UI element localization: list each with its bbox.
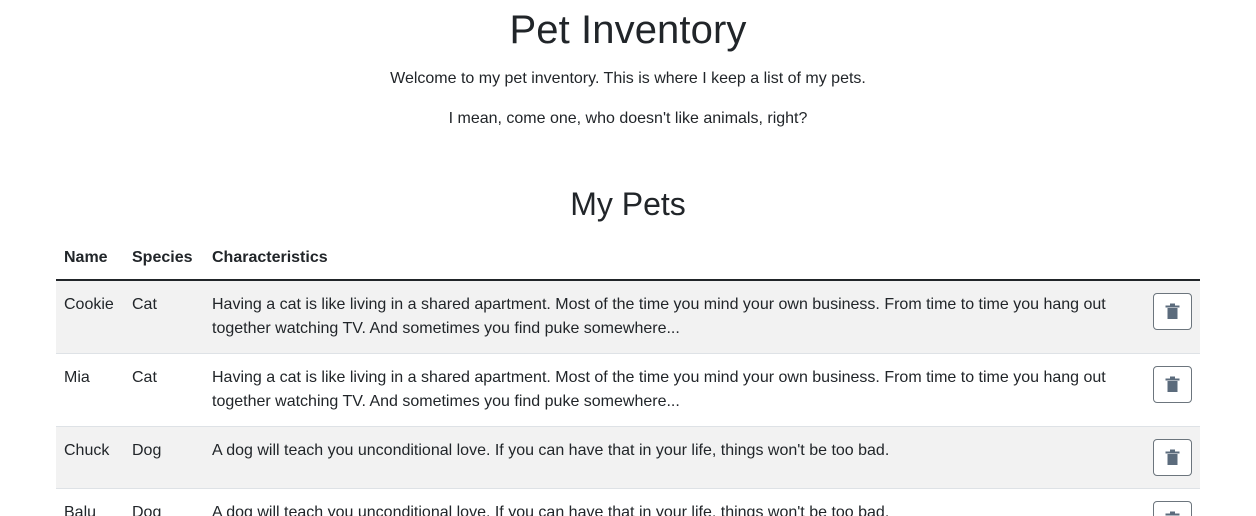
column-header-characteristics: Characteristics	[204, 246, 1138, 280]
trash-icon	[1165, 511, 1180, 516]
cell-characteristics: A dog will teach you unconditional love.…	[204, 427, 1138, 489]
trash-icon	[1165, 303, 1180, 320]
cell-name: Balu	[56, 489, 124, 516]
header-block: Pet Inventory Welcome to my pet inventor…	[0, 0, 1256, 131]
cell-name: Cookie	[56, 280, 124, 354]
table-row: Mia Cat Having a cat is like living in a…	[56, 354, 1200, 427]
column-header-species: Species	[124, 246, 204, 280]
cell-characteristics: A dog will teach you unconditional love.…	[204, 489, 1138, 516]
cell-characteristics: Having a cat is like living in a shared …	[204, 354, 1138, 427]
section-title-my-pets: My Pets	[0, 131, 1256, 223]
cell-species: Dog	[124, 427, 204, 489]
column-header-name: Name	[56, 246, 124, 280]
cell-actions	[1138, 489, 1200, 516]
delete-pet-button[interactable]	[1153, 501, 1192, 516]
table-header-row: Name Species Characteristics	[56, 246, 1200, 280]
cell-characteristics: Having a cat is like living in a shared …	[204, 280, 1138, 354]
table-row: Cookie Cat Having a cat is like living i…	[56, 280, 1200, 354]
cell-name: Mia	[56, 354, 124, 427]
delete-pet-button[interactable]	[1153, 366, 1192, 403]
intro-paragraph-2: I mean, come one, who doesn't like anima…	[0, 107, 1256, 131]
cell-actions	[1138, 280, 1200, 354]
cell-species: Cat	[124, 354, 204, 427]
trash-icon	[1165, 449, 1180, 466]
cell-species: Dog	[124, 489, 204, 516]
table-row: Chuck Dog A dog will teach you unconditi…	[56, 427, 1200, 489]
pet-table: Name Species Characteristics Cookie Cat …	[56, 246, 1200, 516]
table-header: Name Species Characteristics	[56, 246, 1200, 280]
cell-species: Cat	[124, 280, 204, 354]
delete-pet-button[interactable]	[1153, 439, 1192, 476]
table-row: Balu Dog A dog will teach you unconditio…	[56, 489, 1200, 516]
page-root: Pet Inventory Welcome to my pet inventor…	[0, 0, 1256, 516]
cell-actions	[1138, 427, 1200, 489]
trash-icon	[1165, 376, 1180, 393]
delete-pet-button[interactable]	[1153, 293, 1192, 330]
intro-paragraph-1: Welcome to my pet inventory. This is whe…	[0, 67, 1256, 91]
page-title: Pet Inventory	[0, 6, 1256, 54]
cell-name: Chuck	[56, 427, 124, 489]
pet-table-container: Name Species Characteristics Cookie Cat …	[56, 246, 1200, 516]
cell-actions	[1138, 354, 1200, 427]
table-body: Cookie Cat Having a cat is like living i…	[56, 280, 1200, 516]
column-header-actions	[1138, 246, 1200, 280]
